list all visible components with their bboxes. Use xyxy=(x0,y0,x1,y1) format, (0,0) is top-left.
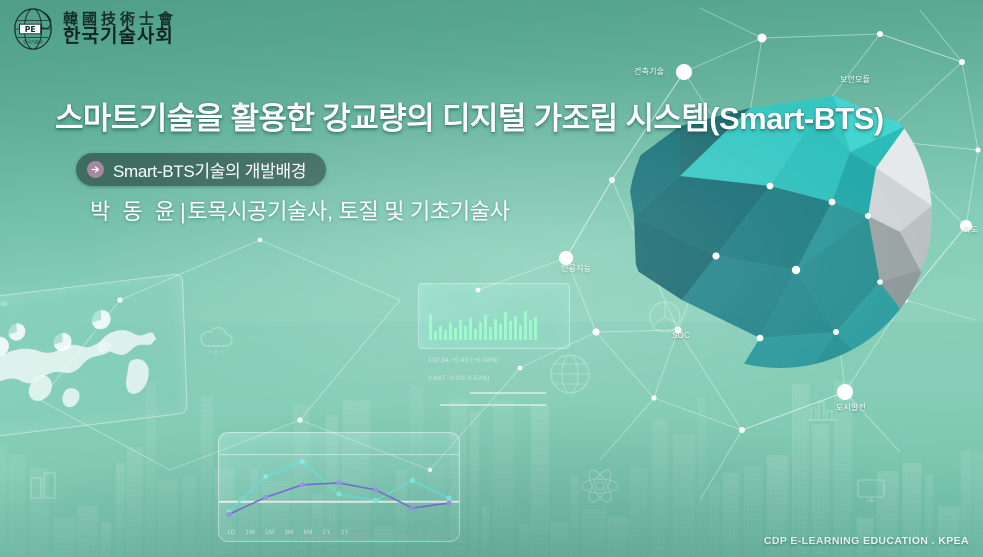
globe-emblem-icon: PE 한국기술사 xyxy=(10,6,56,52)
logo-hanja-text: 韓國技術士會 xyxy=(63,12,177,27)
network-node-label: 속도 xyxy=(963,224,978,235)
section-subtitle-pill: Smart-BTS기술의 개발배경 xyxy=(76,153,326,186)
svg-text:한국기술사: 한국기술사 xyxy=(23,38,43,45)
footer-text: CDP E-LEARNING EDUCATION . KPEA xyxy=(764,535,969,547)
presentation-slide: Graphic 102.94 +0.49 (+0.42%) 3.847 -0.0… xyxy=(0,0,983,557)
network-node-label: 인공지능 xyxy=(561,263,591,274)
page-title: 스마트기술을 활용한 강교량의 디지털 가조립 시스템(Smart-BTS) xyxy=(55,93,884,138)
section-subtitle-text: Smart-BTS기술의 개발배경 xyxy=(113,157,306,182)
presenter-line: 박 동 윤|토목시공기술사, 토질 및 기초기술사 xyxy=(90,194,510,226)
svg-text:PE: PE xyxy=(25,25,36,34)
network-node-label: 도시발전 xyxy=(836,402,866,413)
presenter-name: 박 동 윤 xyxy=(90,199,178,224)
organization-logo: PE 한국기술사 韓國技術士會 한국기술사회 xyxy=(10,6,177,52)
presenter-credentials: 토목시공기술사, 토질 및 기초기술사 xyxy=(187,199,509,224)
arrow-right-circle-icon xyxy=(87,161,104,178)
logo-hangul-text: 한국기술사회 xyxy=(63,27,177,46)
presenter-separator: | xyxy=(178,199,187,224)
